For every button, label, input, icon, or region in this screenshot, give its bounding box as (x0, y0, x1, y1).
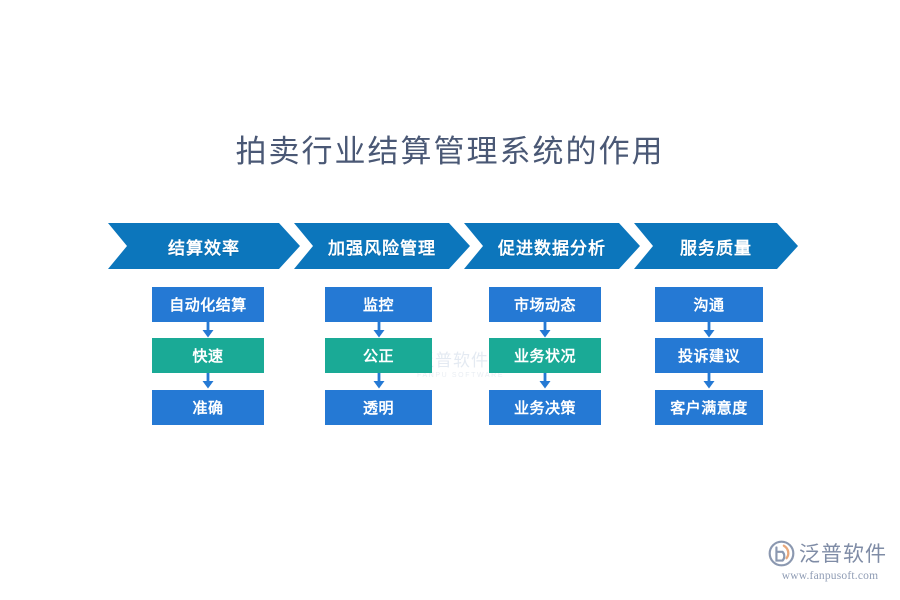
down-arrow-icon (201, 322, 215, 338)
banner-label: 加强风险管理 (328, 234, 436, 259)
banner-row: 结算效率 加强风险管理 促进数据分析 服务质量 (108, 223, 798, 269)
page-title: 拍卖行业结算管理系统的作用 (0, 126, 900, 171)
fanpu-logo-icon (768, 540, 795, 567)
flow-box[interactable]: 业务状况 (489, 338, 601, 373)
down-arrow-icon (538, 322, 552, 338)
flow-box[interactable]: 业务决策 (489, 390, 601, 425)
flow-box[interactable]: 公正 (325, 338, 432, 373)
down-arrow-icon (702, 322, 716, 338)
flow-column-4: 沟通 投诉建议 客户满意度 (655, 287, 763, 427)
banner-chevron-2[interactable]: 加强风险管理 (294, 223, 470, 269)
banner-label: 服务质量 (680, 234, 752, 259)
down-arrow-icon (372, 322, 386, 338)
flow-box[interactable]: 投诉建议 (655, 338, 763, 373)
flow-column-3: 市场动态 业务状况 业务决策 (489, 287, 601, 427)
brand-url: www.fanpusoft.com (768, 570, 892, 582)
banner-chevron-1[interactable]: 结算效率 (108, 223, 300, 269)
brand-name: 泛普软件 (799, 538, 887, 568)
flow-box[interactable]: 监控 (325, 287, 432, 322)
down-arrow-icon (201, 373, 215, 389)
infographic-canvas: 拍卖行业结算管理系统的作用 泛普软件 FANPU SOFTWARE 结算效率 加… (0, 0, 900, 600)
flow-column-1: 自动化结算 快速 准确 (152, 287, 264, 427)
flow-box[interactable]: 透明 (325, 390, 432, 425)
flow-column-2: 监控 公正 透明 (325, 287, 432, 427)
down-arrow-icon (538, 373, 552, 389)
flow-box[interactable]: 客户满意度 (655, 390, 763, 425)
down-arrow-icon (702, 373, 716, 389)
flow-box[interactable]: 准确 (152, 390, 264, 425)
banner-chevron-4[interactable]: 服务质量 (634, 223, 798, 269)
banner-label: 促进数据分析 (498, 234, 606, 259)
banner-label: 结算效率 (168, 234, 240, 259)
banner-chevron-3[interactable]: 促进数据分析 (464, 223, 640, 269)
flow-box[interactable]: 市场动态 (489, 287, 601, 322)
flow-box[interactable]: 自动化结算 (152, 287, 264, 322)
down-arrow-icon (372, 373, 386, 389)
flow-box[interactable]: 快速 (152, 338, 264, 373)
flow-box[interactable]: 沟通 (655, 287, 763, 322)
brand-logo: 泛普软件 www.fanpusoft.com (768, 538, 892, 588)
